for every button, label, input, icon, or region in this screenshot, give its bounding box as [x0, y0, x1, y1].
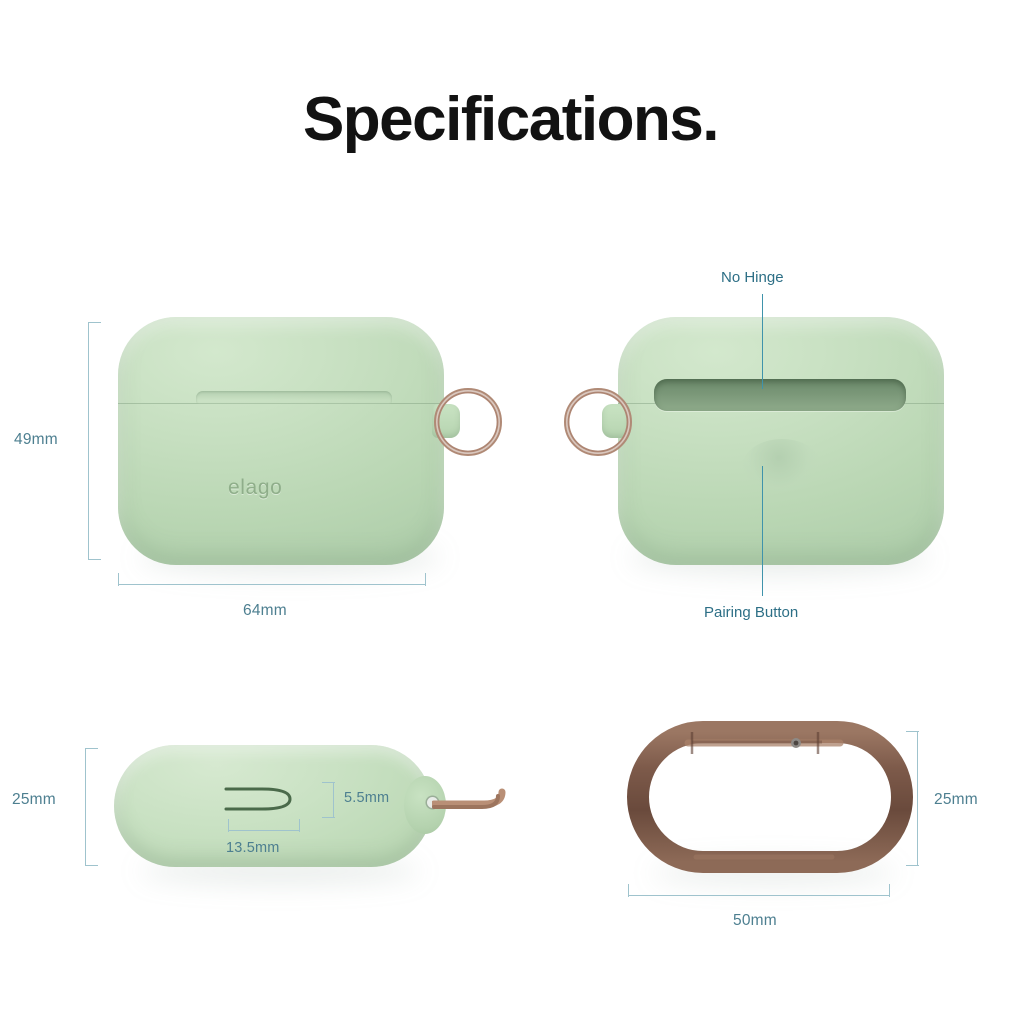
side-height-label: 25mm — [12, 791, 56, 809]
carabiner-height-label: 25mm — [934, 791, 978, 809]
front-width-bracket — [118, 584, 426, 585]
carabiner-width-bracket — [628, 895, 890, 896]
port-width-label: 13.5mm — [226, 840, 280, 856]
pairing-button-bump — [743, 439, 821, 491]
side-height-bracket — [85, 748, 86, 866]
front-height-label: 49mm — [14, 431, 58, 449]
port-width-bracket — [228, 830, 300, 831]
specifications-page: Specifications. elago 49mm 64mm No Hinge… — [0, 0, 1021, 1024]
callout-no-hinge-label: No Hinge — [721, 269, 784, 286]
front-case-body: elago — [118, 317, 444, 565]
front-lid-groove — [196, 391, 392, 404]
port-height-label: 5.5mm — [344, 790, 389, 806]
side-ring-wire — [432, 780, 510, 828]
charging-port-cutout — [222, 779, 342, 835]
callout-pairing-button-leader — [762, 466, 763, 596]
callout-pairing-button-label: Pairing Button — [704, 604, 798, 621]
callout-no-hinge-leader — [762, 294, 763, 389]
carabiner-height-bracket — [917, 731, 918, 866]
port-height-bracket — [333, 782, 334, 818]
brand-logo: elago — [228, 476, 282, 500]
back-split-ring — [564, 388, 632, 456]
carabiner-width-label: 50mm — [733, 912, 777, 930]
front-split-ring — [434, 388, 502, 456]
front-height-bracket — [88, 322, 89, 560]
page-title: Specifications. — [0, 84, 1021, 155]
back-case-body — [618, 317, 944, 565]
carabiner-ring — [626, 718, 914, 878]
back-hinge-recess — [654, 379, 906, 411]
front-width-label: 64mm — [243, 602, 287, 620]
